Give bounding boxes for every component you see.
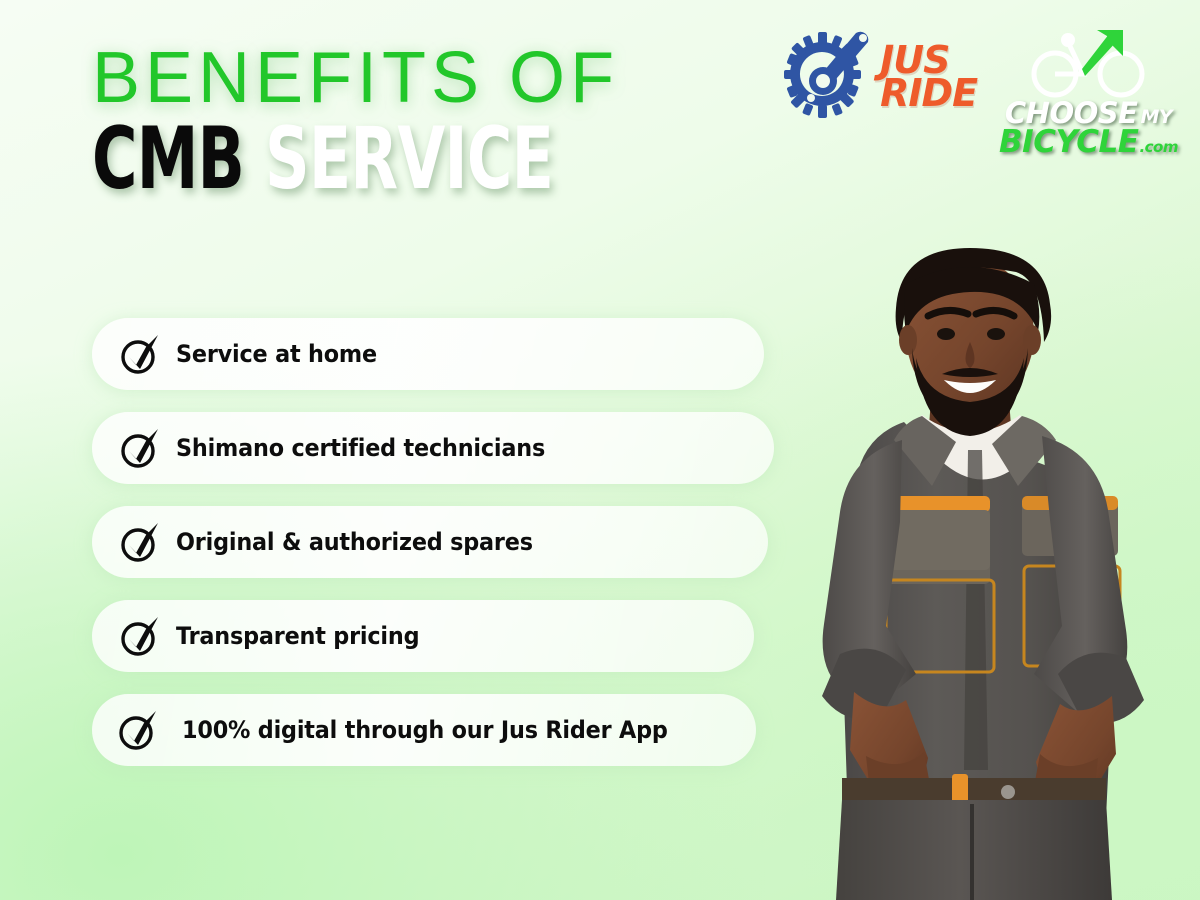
technician-illustration	[736, 200, 1200, 900]
circled-checkmark-icon	[120, 333, 160, 375]
benefit-label: Transparent pricing	[176, 622, 419, 650]
cmb-wordmark-line2: BICYCLE .com	[999, 128, 1178, 157]
cmb-word-dotcom: .com	[1139, 140, 1178, 154]
benefit-row[interactable]: 100% digital through our Jus Rider App	[92, 694, 756, 766]
bicycle-arrow-icon	[1025, 28, 1153, 100]
benefits-list: Service at home Shimano certified techni…	[92, 318, 782, 788]
chainring-crank-icon	[778, 26, 874, 128]
benefit-row[interactable]: Transparent pricing	[92, 600, 754, 672]
headline-line-1: BENEFITS OF	[92, 44, 712, 113]
headline-word-service: SERVICE	[265, 109, 553, 209]
jusride-word-ride: RIDE	[880, 77, 977, 110]
circled-checkmark-icon	[120, 427, 160, 469]
benefit-row[interactable]: Original & authorized spares	[92, 506, 768, 578]
technician-figure	[736, 200, 1200, 900]
benefit-label: Service at home	[176, 340, 377, 368]
benefit-label: Original & authorized spares	[176, 528, 533, 556]
jusride-wordmark: JUS RIDE	[880, 44, 977, 111]
benefit-label: Shimano certified technicians	[176, 434, 545, 462]
headline-brand-cmb: CMB	[92, 109, 244, 209]
poster-canvas: BENEFITS OF CMB SERVICE	[0, 0, 1200, 900]
logo-group: JUS RIDE CHOOSE MY	[778, 26, 1178, 157]
benefit-label: 100% digital through our Jus Rider App	[182, 716, 668, 744]
choosemybicycle-logo[interactable]: CHOOSE MY BICYCLE .com	[999, 26, 1178, 157]
benefit-row[interactable]: Service at home	[92, 318, 764, 390]
circled-checkmark-icon	[120, 615, 160, 657]
benefit-row[interactable]: Shimano certified technicians	[92, 412, 774, 484]
headline-line-2: CMB SERVICE	[92, 119, 538, 201]
circled-checkmark-icon	[120, 521, 160, 563]
cmb-word-bicycle: BICYCLE	[999, 128, 1138, 157]
circled-checkmark-icon	[118, 709, 158, 751]
jusride-logo[interactable]: JUS RIDE	[778, 26, 977, 128]
headline-block: BENEFITS OF CMB SERVICE	[92, 44, 712, 201]
cmb-word-my: MY	[1140, 108, 1172, 126]
